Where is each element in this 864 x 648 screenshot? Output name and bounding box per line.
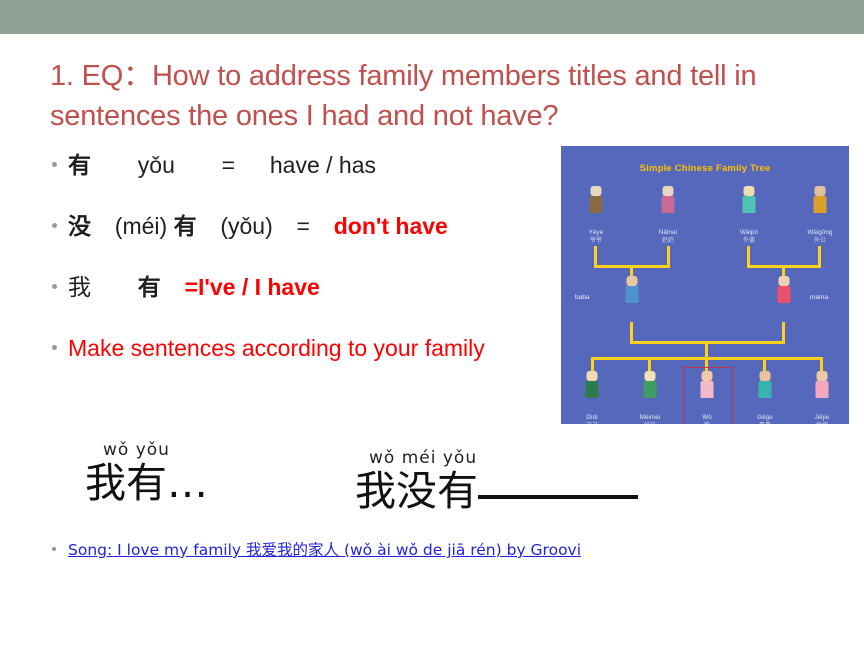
family-tree-title: Simple Chinese Family Tree [561, 163, 849, 174]
tree-label-pinyin: Gēge [742, 414, 788, 422]
tree-person-mama [761, 276, 807, 318]
hanzi-you-3: 有 [138, 275, 161, 301]
tree-label-pinyin: Nǎinai [645, 229, 691, 237]
pattern-2-hanzi: 我没有 [355, 467, 478, 515]
equals-sign-1: = [222, 152, 235, 178]
tree-person-nainai: Nǎinai 奶奶 [645, 186, 691, 245]
sentence-pattern-area: wǒ yǒu 我有… wǒ méi yǒu 我没有 [0, 440, 864, 530]
pattern-wo-mei-you: wǒ méi yǒu 我没有 [355, 448, 638, 514]
tree-person-jiejie: Jiějie 姐姐 [799, 371, 845, 424]
pattern-wo-you: wǒ yǒu 我有… [85, 440, 208, 506]
person-figure-icon [738, 186, 760, 228]
hanzi-wo: 我 [68, 275, 91, 301]
tree-person-didi: Dìdi 弟弟 [569, 371, 615, 424]
person-figure-icon [639, 371, 661, 413]
tree-label-mama: mama [810, 294, 828, 301]
tree-label-hanzi: 哥哥 [742, 422, 788, 424]
person-figure-icon [811, 371, 833, 413]
bullet-dot-icon [52, 345, 57, 350]
tree-label-pinyin: Wàipó [726, 229, 772, 237]
tree-person-meimei: Mèimei 妹妹 [627, 371, 673, 424]
tree-label-pinyin: Jiějie [799, 414, 845, 422]
person-figure-icon [621, 276, 643, 318]
person-figure-icon [809, 186, 831, 228]
tree-person-waipo: Wàipó 外婆 [726, 186, 772, 245]
tree-person-baba [609, 276, 655, 318]
wo-highlight-box [683, 367, 733, 424]
english-ive-i-have: =I've / I have [185, 274, 320, 300]
hanzi-mei: 没 [68, 214, 91, 240]
tree-person-waigong: Wàigōng 外公 [797, 186, 843, 245]
bullet-dot-icon [52, 223, 57, 228]
person-figure-icon [657, 186, 679, 228]
page-title: 1. EQ：How to address family members titl… [50, 56, 810, 136]
tree-label-hanzi: 爷爷 [573, 237, 619, 245]
song-link[interactable]: Song: I love my family 我爱我的家人 (wǒ ài wǒ … [68, 541, 581, 559]
tree-label-hanzi: 姐姐 [799, 422, 845, 424]
tree-label-hanzi: 外公 [797, 237, 843, 245]
hanzi-you: 有 [68, 153, 91, 179]
tree-label-pinyin: Mèimei [627, 414, 673, 422]
tree-label-pinyin: Wàigōng [797, 229, 843, 237]
fill-in-blank [478, 495, 638, 499]
make-sentences-text: Make sentences according to your family [68, 335, 485, 361]
bullet-dot-icon [52, 284, 57, 289]
pattern-1-pinyin: wǒ yǒu [103, 440, 208, 460]
tree-label-pinyin: Dìdi [569, 414, 615, 422]
family-tree-image: Simple Chinese Family Tree Yéye 爷爷 Nǎina… [561, 146, 849, 424]
pinyin-you: yǒu [138, 152, 175, 178]
song-link-row[interactable]: Song: I love my family 我爱我的家人 (wǒ ài wǒ … [50, 538, 581, 560]
pattern-1-hanzi: 我有… [85, 460, 208, 506]
person-figure-icon [581, 371, 603, 413]
pinyin-mei: (méi) [115, 213, 167, 239]
bullet-dot-icon [52, 547, 56, 551]
pinyin-you-2: (yǒu) [220, 213, 272, 239]
tree-label-pinyin: Yéye [573, 229, 619, 237]
person-figure-icon [585, 186, 607, 228]
english-have-has: have / has [270, 152, 376, 178]
tree-label-hanzi: 弟弟 [569, 422, 615, 424]
tree-person-gege: Gēge 哥哥 [742, 371, 788, 424]
person-figure-icon [773, 276, 795, 318]
pattern-2-pinyin: wǒ méi yǒu [369, 448, 638, 468]
hanzi-you-2: 有 [174, 214, 197, 240]
person-figure-icon [754, 371, 776, 413]
tree-person-yeye: Yéye 爷爷 [573, 186, 619, 245]
tree-label-hanzi: 奶奶 [645, 237, 691, 245]
bullet-dot-icon [52, 162, 57, 167]
tree-label-hanzi: 外婆 [726, 237, 772, 245]
tree-label-baba: baba [575, 294, 589, 301]
tree-label-hanzi: 妹妹 [627, 422, 673, 424]
english-dont-have: don't have [334, 213, 448, 239]
header-band [0, 0, 864, 34]
equals-sign-2: = [297, 213, 310, 239]
